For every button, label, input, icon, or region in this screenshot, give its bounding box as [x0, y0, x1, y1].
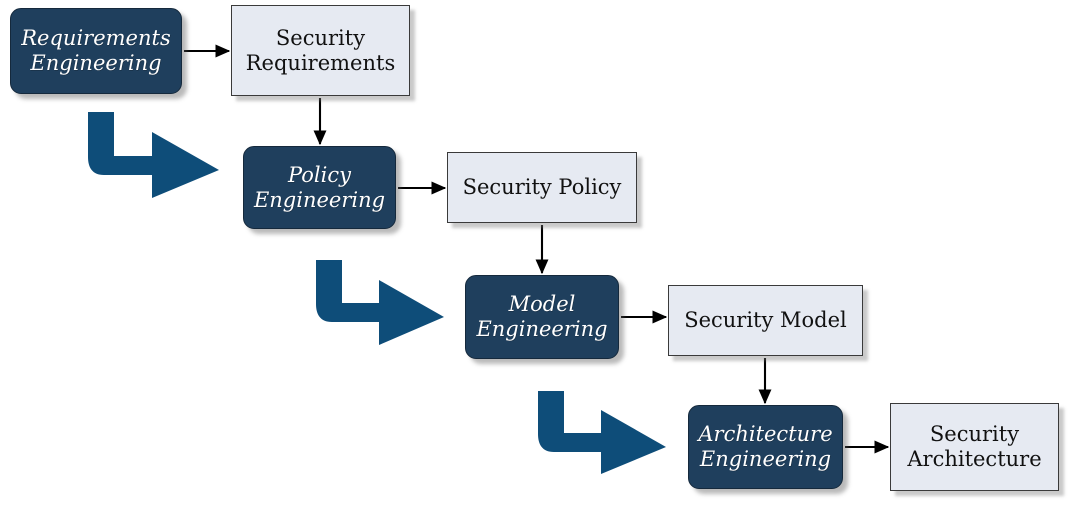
node-security-architecture[interactable]: Security Architecture — [890, 403, 1059, 491]
elbow-arrow-3 — [530, 391, 667, 474]
elbow-arrow-1 — [80, 112, 220, 198]
diagram-canvas: Requirements Engineering Security Requir… — [0, 0, 1075, 505]
node-architecture-engineering[interactable]: Architecture Engineering — [688, 405, 843, 489]
node-model-engineering[interactable]: Model Engineering — [465, 275, 619, 359]
node-security-requirements[interactable]: Security Requirements — [231, 5, 410, 96]
elbow-arrow-2 — [308, 260, 445, 345]
node-policy-engineering[interactable]: Policy Engineering — [243, 146, 396, 229]
node-security-model[interactable]: Security Model — [668, 285, 863, 356]
node-requirements-engineering[interactable]: Requirements Engineering — [10, 8, 182, 94]
node-security-policy[interactable]: Security Policy — [447, 152, 637, 223]
